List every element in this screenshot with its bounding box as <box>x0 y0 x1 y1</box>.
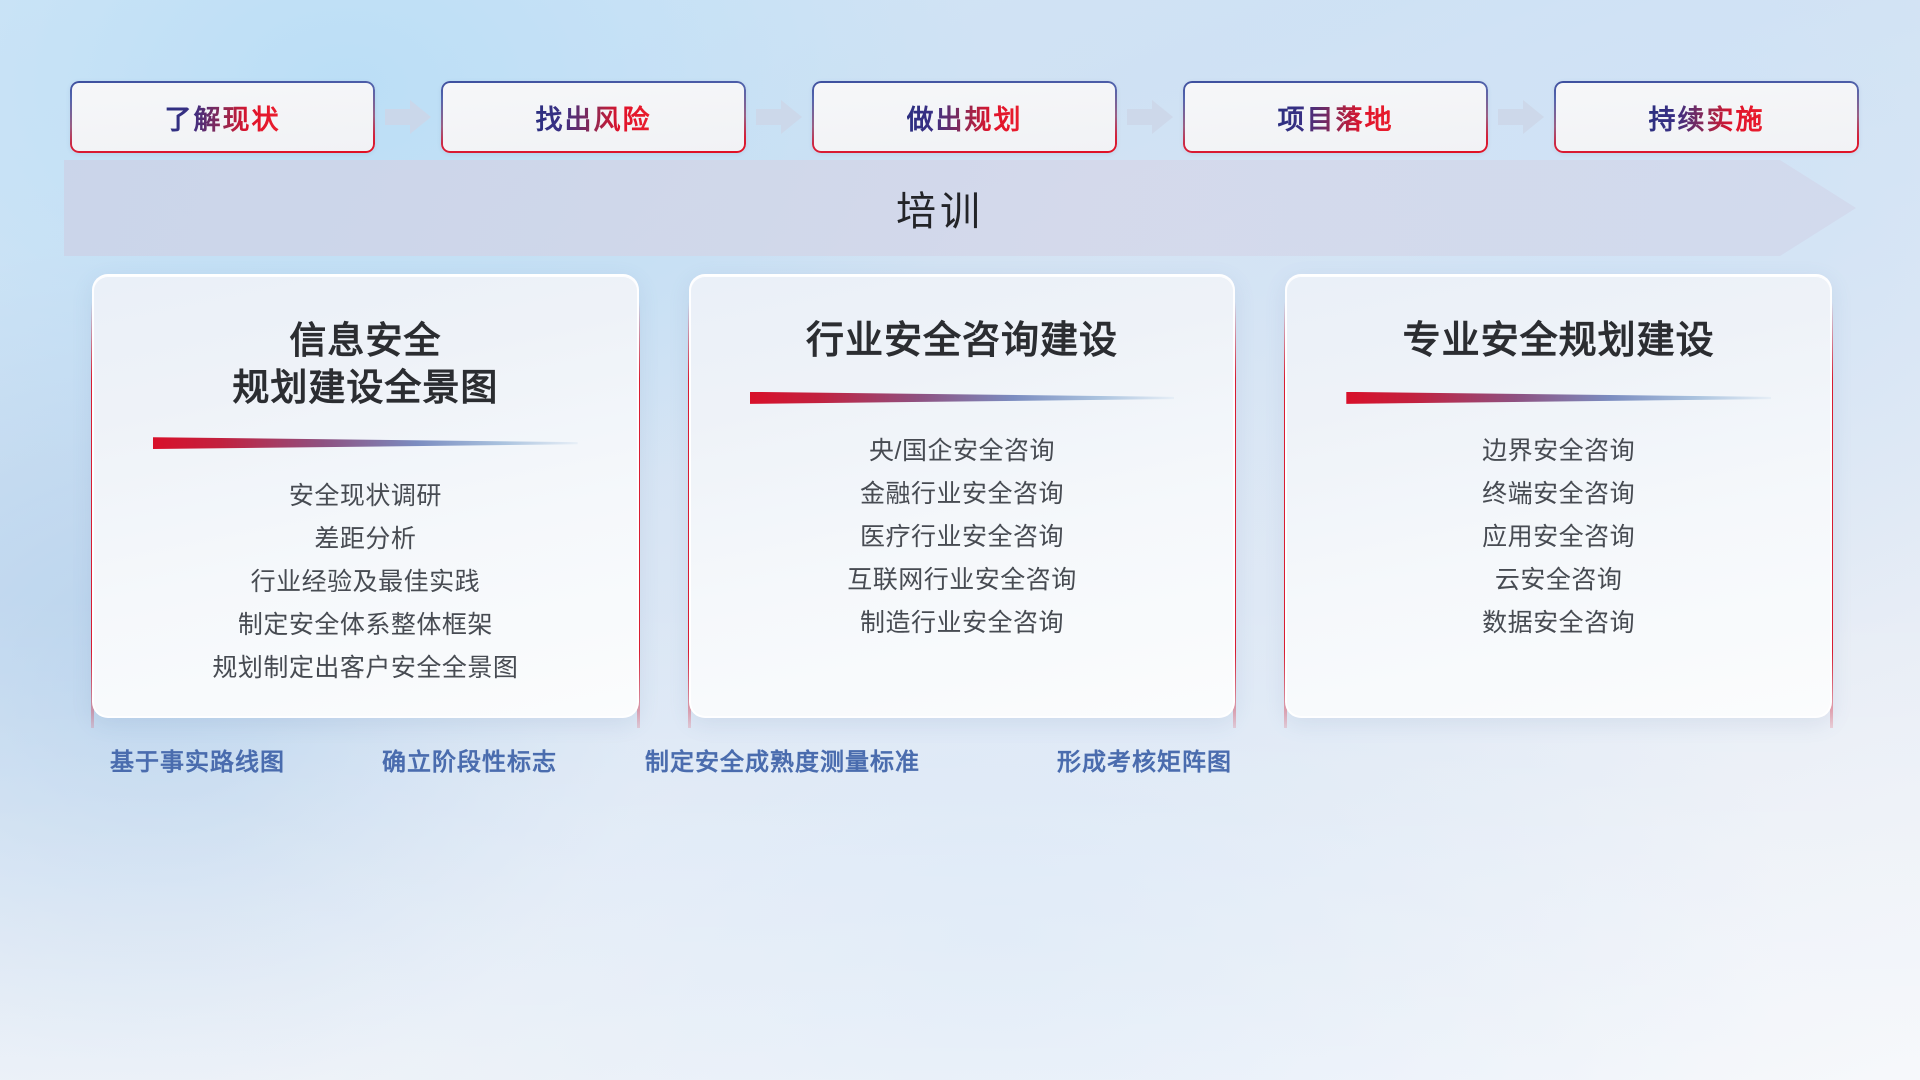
card-industry-security-consulting[interactable]: 行业安全咨询建设 央/国企安全咨询 金融行业安全咨询 医疗行业安全咨询 互联网行… <box>689 274 1236 718</box>
card-divider <box>1346 392 1771 404</box>
training-banner: 培训 <box>64 160 1856 256</box>
card-group: 信息安全 规划建设全景图 安全现状调研 差距分析 行业经验及最佳实践 制定安全体… <box>92 274 1832 718</box>
card-title: 信息安全 规划建设全景图 <box>232 318 498 411</box>
arrow-right-icon <box>1488 94 1554 140</box>
card-information-security-blueprint[interactable]: 信息安全 规划建设全景图 安全现状调研 差距分析 行业经验及最佳实践 制定安全体… <box>92 274 639 718</box>
card-professional-security-planning[interactable]: 专业安全规划建设 边界安全咨询 终端安全咨询 应用安全咨询 云安全咨询 数据安全… <box>1285 274 1832 718</box>
list-item: 云安全咨询 <box>1317 559 1800 602</box>
list-item: 安全现状调研 <box>124 475 607 518</box>
list-item: 差距分析 <box>124 518 607 561</box>
step-box-1[interactable]: 了解现状 <box>70 81 375 153</box>
list-item: 金融行业安全咨询 <box>721 473 1204 516</box>
arrow-right-icon <box>1117 94 1183 140</box>
card-title: 专业安全规划建设 <box>1403 318 1715 366</box>
process-step-flow: 了解现状 找出风险 做出规划 项目落地 <box>70 78 1860 156</box>
list-item: 规划制定出客户安全全景图 <box>124 647 607 690</box>
arrow-right-icon <box>375 94 441 140</box>
step-box-3[interactable]: 做出规划 <box>812 81 1117 153</box>
banner-title: 培训 <box>64 160 1856 256</box>
list-item: 行业经验及最佳实践 <box>124 561 607 604</box>
footer-label-4: 形成考核矩阵图 <box>1057 742 1232 777</box>
card-item-list: 边界安全咨询 终端安全咨询 应用安全咨询 云安全咨询 数据安全咨询 <box>1317 430 1800 645</box>
list-item: 边界安全咨询 <box>1317 430 1800 473</box>
footer-label-group: 基于事实路线图 确立阶段性标志 制定安全成熟度测量标准 形成考核矩阵图 <box>0 742 1920 788</box>
list-item: 应用安全咨询 <box>1317 516 1800 559</box>
footer-label-3: 制定安全成熟度测量标准 <box>645 742 920 777</box>
list-item: 医疗行业安全咨询 <box>721 516 1204 559</box>
step-label: 项目落地 <box>1278 98 1394 137</box>
card-item-list: 央/国企安全咨询 金融行业安全咨询 医疗行业安全咨询 互联网行业安全咨询 制造行… <box>721 430 1204 645</box>
step-box-2[interactable]: 找出风险 <box>441 81 746 153</box>
list-item: 央/国企安全咨询 <box>721 430 1204 473</box>
arrow-right-icon <box>746 94 812 140</box>
list-item: 制定安全体系整体框架 <box>124 604 607 647</box>
list-item: 终端安全咨询 <box>1317 473 1800 516</box>
step-label: 持续实施 <box>1649 98 1765 137</box>
card-title: 行业安全咨询建设 <box>806 318 1118 366</box>
card-item-list: 安全现状调研 差距分析 行业经验及最佳实践 制定安全体系整体框架 规划制定出客户… <box>124 475 607 690</box>
card-divider <box>750 392 1175 404</box>
list-item: 数据安全咨询 <box>1317 602 1800 645</box>
footer-label-2: 确立阶段性标志 <box>382 742 557 777</box>
step-box-4[interactable]: 项目落地 <box>1183 81 1488 153</box>
footer-label-1: 基于事实路线图 <box>110 742 285 777</box>
card-divider <box>153 437 578 449</box>
slide-canvas: 了解现状 找出风险 做出规划 项目落地 <box>0 0 1920 1080</box>
list-item: 制造行业安全咨询 <box>721 602 1204 645</box>
step-label: 了解现状 <box>165 98 281 137</box>
step-label: 做出规划 <box>907 98 1023 137</box>
step-label: 找出风险 <box>536 98 652 137</box>
list-item: 互联网行业安全咨询 <box>721 559 1204 602</box>
step-box-5[interactable]: 持续实施 <box>1554 81 1859 153</box>
